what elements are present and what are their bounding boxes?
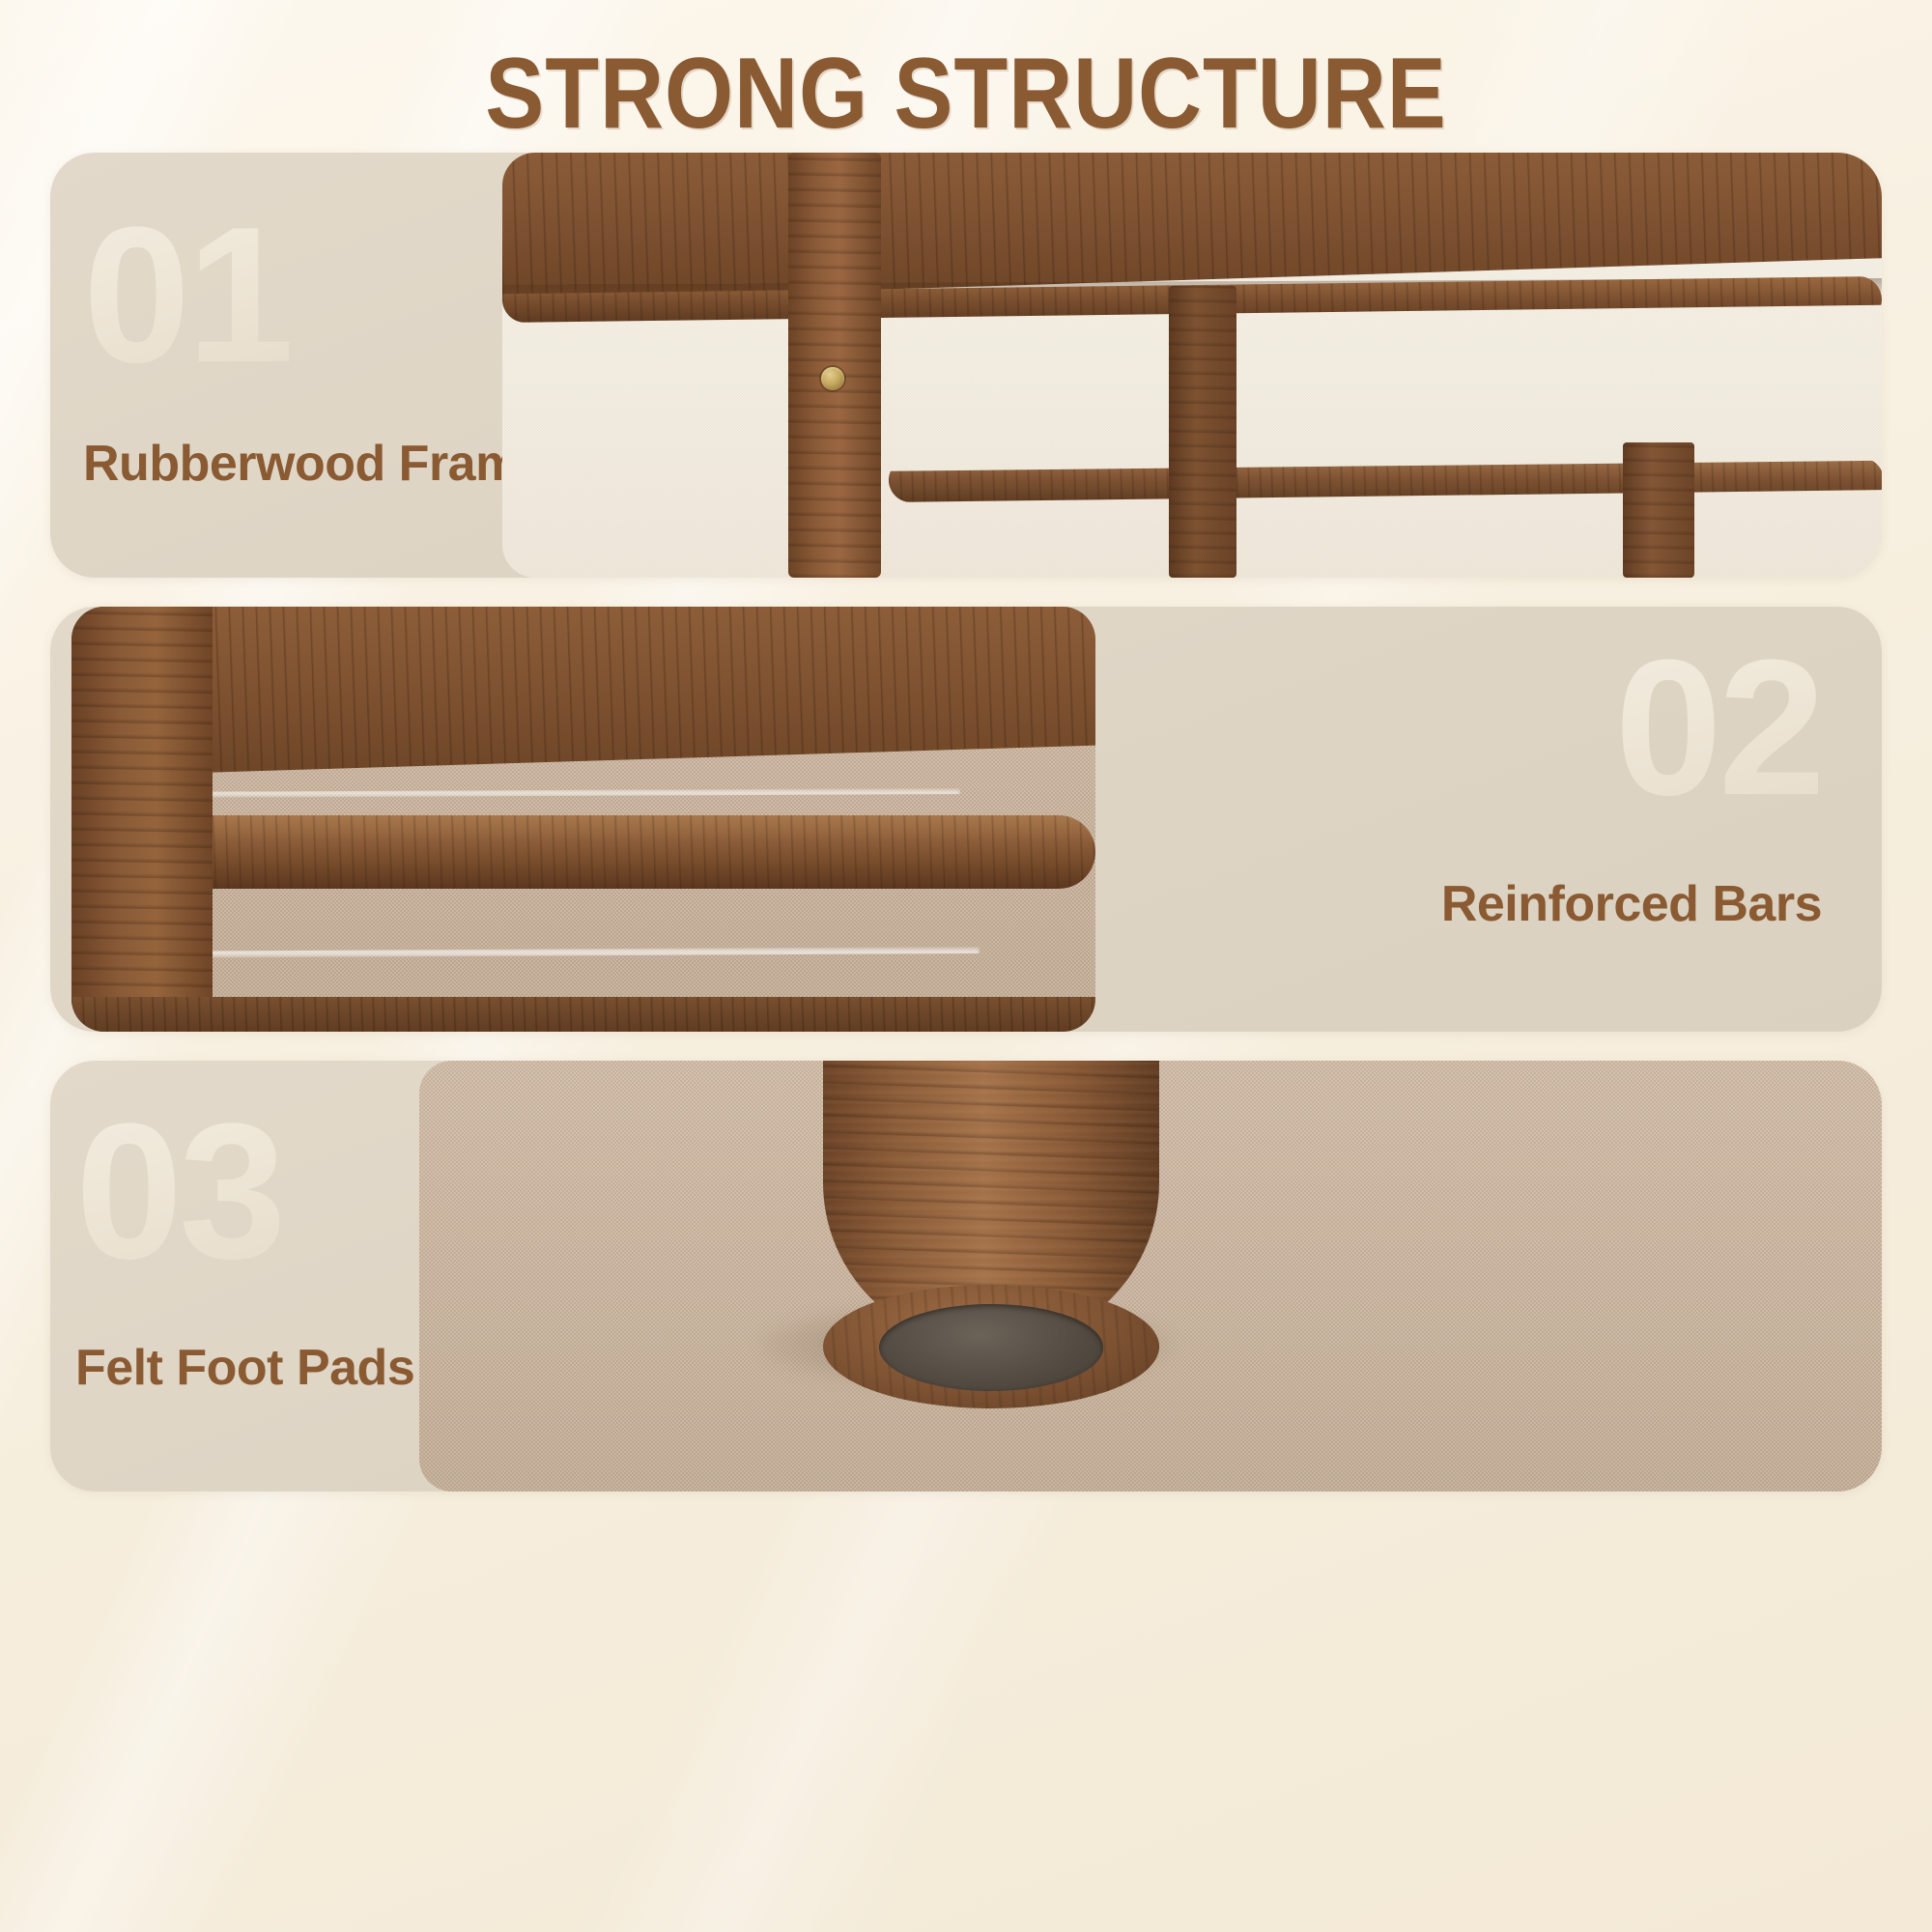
feature-card-03: 03 Felt Foot Pads xyxy=(50,1061,1882,1492)
page-title: STRONG STRUCTURE xyxy=(116,37,1816,152)
card-01-caption: Rubberwood Frame xyxy=(83,435,547,493)
brass-screw-top xyxy=(821,367,844,390)
card-03-photo xyxy=(419,1061,1882,1492)
card-01-photo xyxy=(502,153,1882,578)
feature-card-02: 02 Reinforced Bars xyxy=(50,607,1882,1032)
card-02-text-block: 02 Reinforced Bars xyxy=(1122,607,1882,1032)
card-01-number: 01 xyxy=(83,199,290,392)
bottom-board xyxy=(71,997,1095,1032)
card-03-number: 03 xyxy=(75,1095,282,1289)
card-02-caption: Reinforced Bars xyxy=(1441,875,1822,933)
card-01-text-block: 01 Rubberwood Frame xyxy=(50,153,504,578)
felt-foot-pad xyxy=(879,1304,1103,1391)
far-right-leg xyxy=(1623,442,1694,578)
left-post xyxy=(71,607,213,1032)
card-02-number: 02 xyxy=(1615,632,1822,825)
card-03-caption: Felt Foot Pads xyxy=(75,1339,414,1397)
card-02-photo xyxy=(71,607,1095,1032)
card-03-text-block: 03 Felt Foot Pads xyxy=(50,1061,456,1492)
vertical-leg xyxy=(788,153,881,578)
secondary-leg xyxy=(1169,286,1236,578)
reinforced-bar xyxy=(164,815,1095,889)
feature-card-01: 01 Rubberwood Frame xyxy=(50,153,1882,578)
